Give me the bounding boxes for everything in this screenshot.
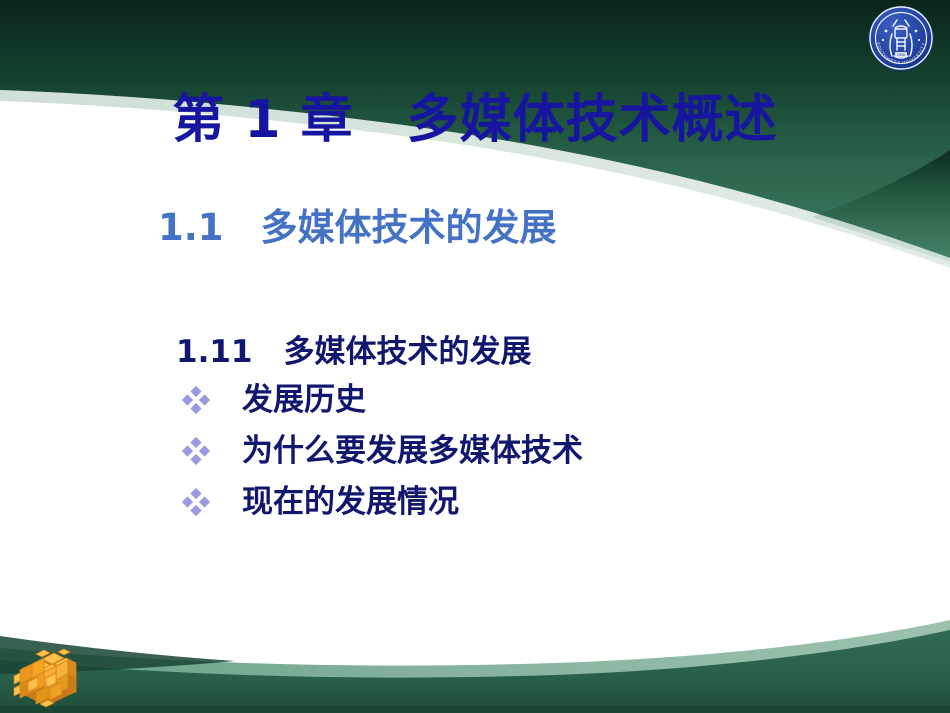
four-diamond-bullet-icon <box>180 385 210 415</box>
bullet-label: 为什么要发展多媒体技术 <box>242 434 583 468</box>
list-item: 为什么要发展多媒体技术 <box>176 429 876 473</box>
bullet-label: 现在的发展情况 <box>242 485 459 519</box>
list-item: 发展历史 <box>176 378 876 422</box>
bullet-list: 发展历史 为什么要发展多媒体技术 <box>176 378 876 524</box>
four-diamond-bullet-icon <box>180 487 210 517</box>
slide-text-layer: 第 1 章 多媒体技术概述 1.1 多媒体技术的发展 1.11 多媒体技术的发展 <box>0 0 950 713</box>
four-diamond-bullet-icon <box>180 436 210 466</box>
section-title: 1.1 多媒体技术的发展 <box>158 207 557 250</box>
list-item: 现在的发展情况 <box>176 480 876 524</box>
chapter-title: 第 1 章 多媒体技术概述 <box>0 92 950 148</box>
slide-canvas: 1906 SOUTHWEST UNIVERSITY 第 1 章 多媒体技术概述 … <box>0 0 950 713</box>
subsection-title: 1.11 多媒体技术的发展 <box>176 333 876 373</box>
body-content-block: 1.11 多媒体技术的发展 发展历史 <box>176 333 876 531</box>
bullet-label: 发展历史 <box>242 383 366 417</box>
